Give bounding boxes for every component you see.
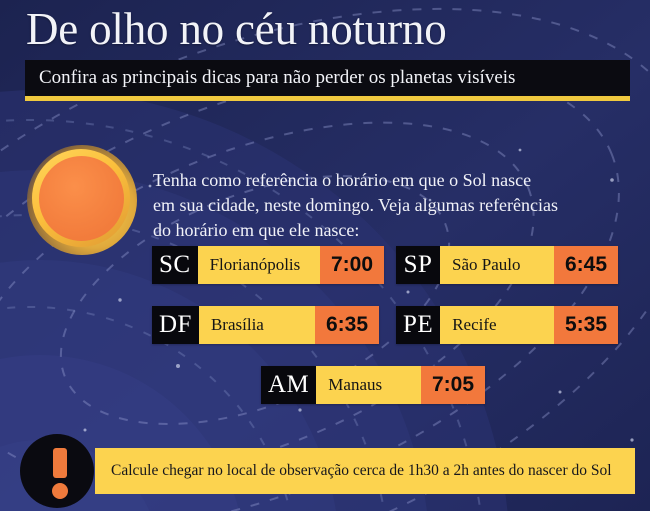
- subtitle-bar: Confira as principais dicas para não per…: [25, 60, 630, 96]
- sunrise-times-list: SC Florianópolis 7:00 SP São Paulo 6:45 …: [0, 246, 650, 426]
- table-row: SC Florianópolis 7:00 SP São Paulo 6:45: [0, 246, 650, 306]
- city-name: Manaus: [316, 366, 421, 404]
- intro-line-3: do horário em que ele nasce:: [153, 218, 633, 243]
- exclamation-icon: [20, 434, 94, 508]
- alert-text: Calcule chegar no local de observação ce…: [111, 462, 612, 480]
- list-item: SC Florianópolis 7:00: [152, 246, 384, 284]
- city-name: Florianópolis: [198, 246, 320, 284]
- sunrise-time: 6:45: [554, 246, 618, 284]
- intro-line-2: em sua cidade, neste domingo. Veja algum…: [153, 193, 633, 218]
- sunrise-time: 5:35: [554, 306, 618, 344]
- table-row: DF Brasília 6:35 PE Recife 5:35: [0, 306, 650, 366]
- list-item: PE Recife 5:35: [396, 306, 618, 344]
- state-badge: SC: [152, 246, 198, 284]
- table-row: AM Manaus 7:05: [0, 366, 650, 426]
- sun-core: [39, 156, 124, 241]
- sunrise-time: 7:05: [421, 366, 485, 404]
- list-item: DF Brasília 6:35: [152, 306, 379, 344]
- list-item: AM Manaus 7:05: [261, 366, 485, 404]
- exclamation-dot: [52, 483, 68, 499]
- alert-block: Calcule chegar no local de observação ce…: [0, 434, 650, 511]
- sunrise-time: 7:00: [320, 246, 384, 284]
- state-badge: SP: [396, 246, 440, 284]
- subtitle-underline: [25, 96, 630, 101]
- page-title: De olho no céu noturno: [0, 0, 650, 56]
- sunrise-time: 6:35: [315, 306, 379, 344]
- sun-icon: [27, 145, 137, 257]
- intro-text: Tenha como referência o horário em que o…: [153, 168, 633, 243]
- subtitle-block: Confira as principais dicas para não per…: [25, 60, 630, 101]
- city-name: Brasília: [199, 306, 315, 344]
- subtitle-text: Confira as principais dicas para não per…: [39, 67, 515, 89]
- state-badge: AM: [261, 366, 316, 404]
- city-name: São Paulo: [440, 246, 554, 284]
- intro-line-1: Tenha como referência o horário em que o…: [153, 168, 633, 193]
- list-item: SP São Paulo 6:45: [396, 246, 618, 284]
- exclamation-bar: [53, 448, 67, 478]
- state-badge: PE: [396, 306, 440, 344]
- state-badge: DF: [152, 306, 199, 344]
- alert-banner: Calcule chegar no local de observação ce…: [95, 448, 635, 494]
- header: De olho no céu noturno Confira as princi…: [0, 0, 650, 56]
- city-name: Recife: [440, 306, 554, 344]
